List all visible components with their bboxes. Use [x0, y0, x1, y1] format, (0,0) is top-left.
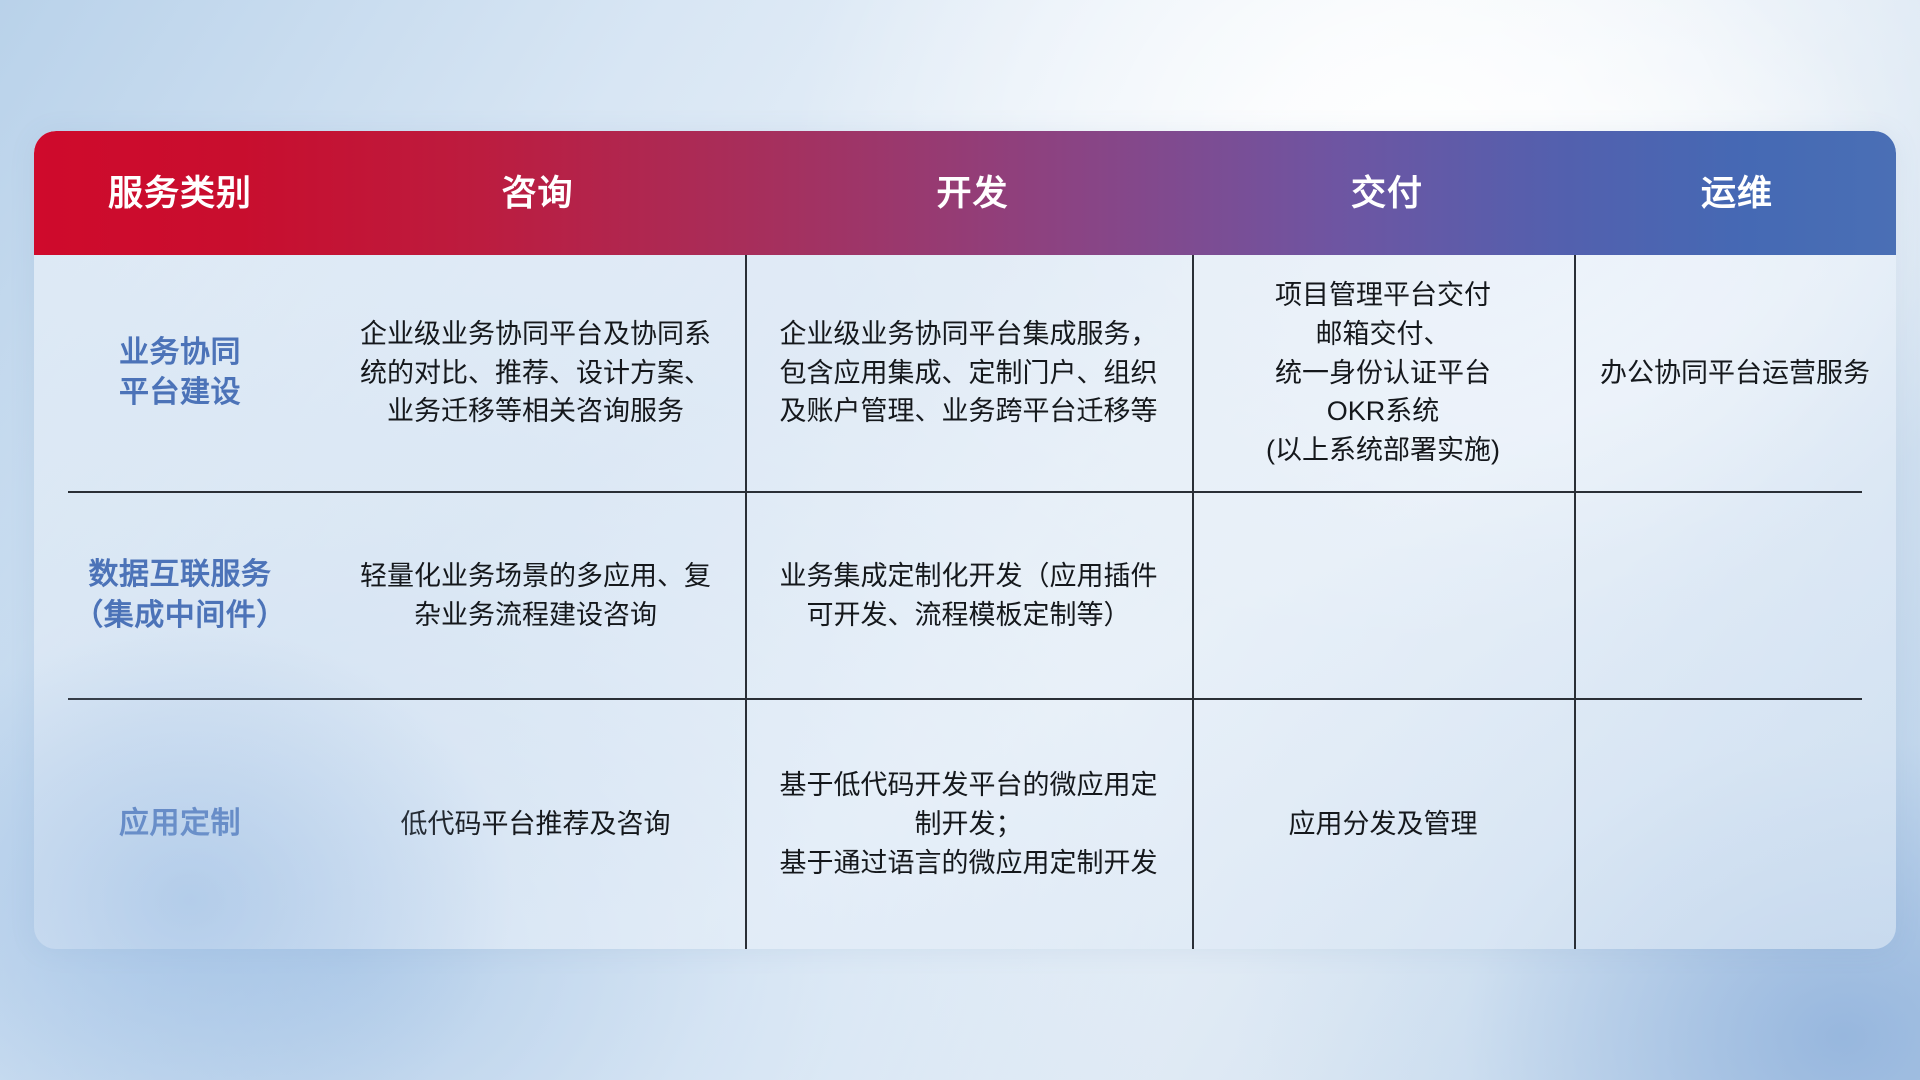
- cell-development: 基于低代码开发平台的微应用定 制开发； 基于通过语言的微应用定制开发: [745, 700, 1192, 949]
- row-category-label: 业务协同 平台建设: [119, 333, 241, 413]
- cell-consulting: 低代码平台推荐及咨询: [326, 700, 745, 949]
- cell-operations: [1574, 700, 1896, 949]
- cell-text: 企业级业务协同平台及协同系 统的对比、推荐、设计方案、 业务迁移等相关咨询服务: [360, 315, 711, 432]
- cell-delivery: 应用分发及管理: [1192, 700, 1574, 949]
- column-header-label: 开发: [936, 174, 1008, 213]
- cell-operations: 办公协同平台运营服务: [1574, 255, 1896, 491]
- table-header-row: 服务类别 咨询 开发 交付 运维: [34, 131, 1896, 255]
- column-header-development: 开发: [749, 176, 1196, 211]
- row-category-label: 数据互联服务 （集成中间件）: [73, 555, 287, 635]
- row-category-cell: 数据互联服务 （集成中间件）: [34, 493, 326, 698]
- table-body: 业务协同 平台建设 企业级业务协同平台及协同系 统的对比、推荐、设计方案、 业务…: [34, 255, 1896, 949]
- cell-text: 基于低代码开发平台的微应用定 制开发； 基于通过语言的微应用定制开发: [780, 766, 1158, 883]
- table-row: 数据互联服务 （集成中间件） 轻量化业务场景的多应用、复 杂业务流程建设咨询 业…: [34, 493, 1896, 698]
- cell-text: 低代码平台推荐及咨询: [401, 805, 671, 844]
- column-header-label: 交付: [1351, 174, 1423, 213]
- cell-text: 轻量化业务场景的多应用、复 杂业务流程建设咨询: [360, 557, 711, 635]
- cell-text: 企业级业务协同平台集成服务， 包含应用集成、定制门户、组织 及账户管理、业务跨平…: [780, 315, 1158, 432]
- table-row: 应用定制 低代码平台推荐及咨询 基于低代码开发平台的微应用定 制开发； 基于通过…: [34, 700, 1896, 949]
- column-header-service-category: 服务类别: [34, 176, 326, 211]
- cell-development: 企业级业务协同平台集成服务， 包含应用集成、定制门户、组织 及账户管理、业务跨平…: [745, 255, 1192, 491]
- cell-text: 业务集成定制化开发（应用插件 可开发、流程模板定制等）: [780, 557, 1158, 635]
- cell-development: 业务集成定制化开发（应用插件 可开发、流程模板定制等）: [745, 493, 1192, 698]
- cell-delivery: 项目管理平台交付 邮箱交付、 统一身份认证平台 OKR系统 (以上系统部署实施): [1192, 255, 1574, 491]
- column-header-delivery: 交付: [1196, 176, 1578, 211]
- column-header-consulting: 咨询: [326, 176, 749, 211]
- cell-text: 应用分发及管理: [1289, 805, 1478, 844]
- page-root: 服务类别 咨询 开发 交付 运维: [0, 0, 1920, 1080]
- row-category-cell: 应用定制: [34, 700, 326, 949]
- table-row: 业务协同 平台建设 企业级业务协同平台及协同系 统的对比、推荐、设计方案、 业务…: [34, 255, 1896, 491]
- column-header-operations: 运维: [1578, 176, 1896, 211]
- column-header-label: 咨询: [501, 174, 573, 213]
- cell-operations: [1574, 493, 1896, 698]
- column-header-label: 服务类别: [108, 174, 252, 213]
- cell-text: 项目管理平台交付 邮箱交付、 统一身份认证平台 OKR系统 (以上系统部署实施): [1266, 276, 1500, 470]
- cell-delivery: [1192, 493, 1574, 698]
- service-matrix-table: 服务类别 咨询 开发 交付 运维: [34, 131, 1896, 949]
- cell-consulting: 企业级业务协同平台及协同系 统的对比、推荐、设计方案、 业务迁移等相关咨询服务: [326, 255, 745, 491]
- cell-text: 办公协同平台运营服务: [1600, 354, 1870, 393]
- cell-consulting: 轻量化业务场景的多应用、复 杂业务流程建设咨询: [326, 493, 745, 698]
- row-category-label: 应用定制: [119, 804, 241, 844]
- row-category-cell: 业务协同 平台建设: [34, 255, 326, 491]
- column-header-label: 运维: [1701, 174, 1773, 213]
